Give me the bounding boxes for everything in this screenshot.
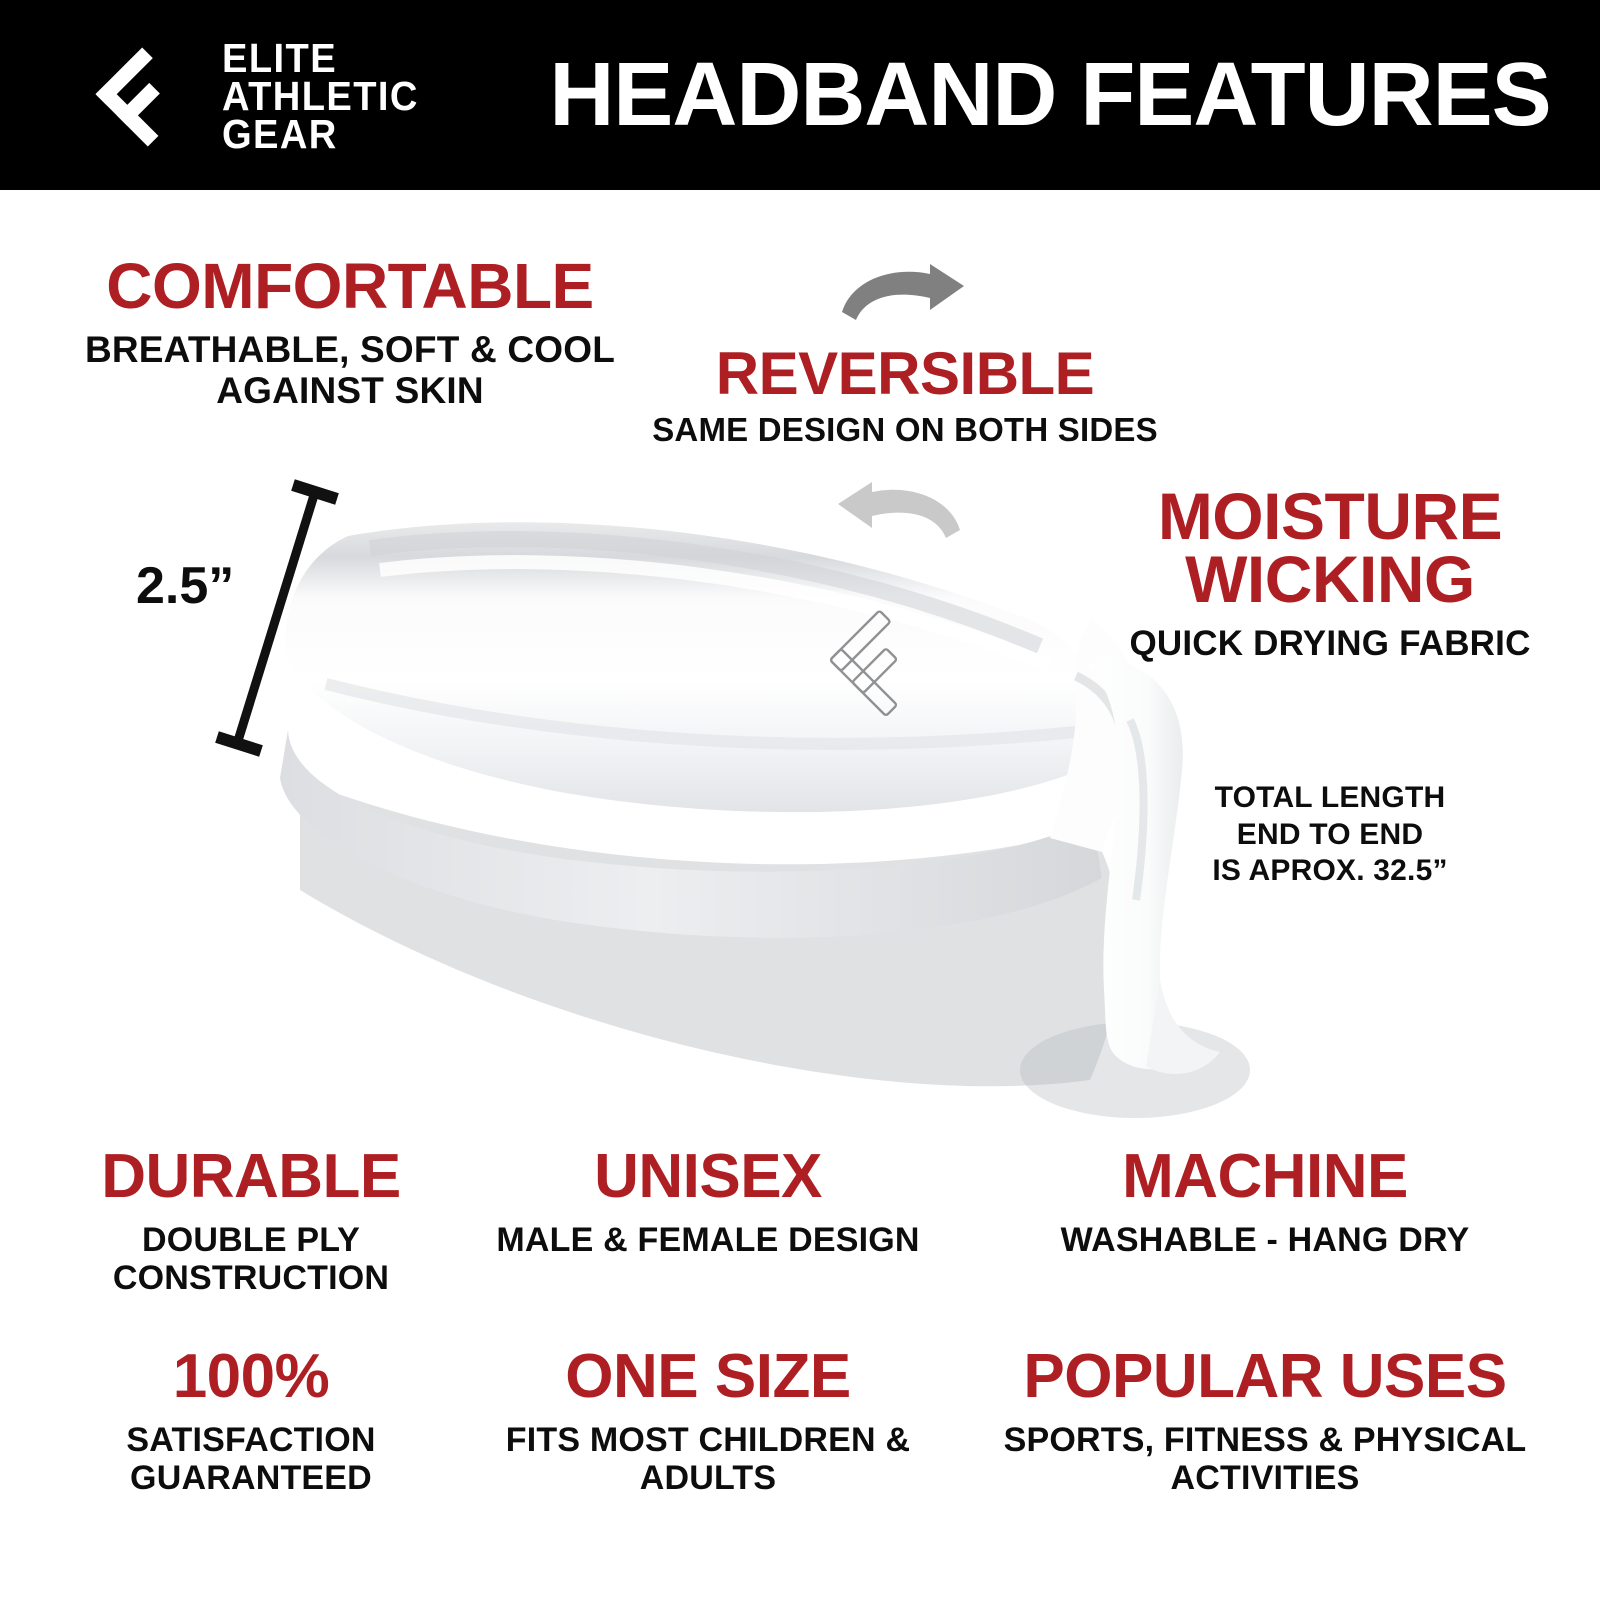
feature-satisfaction: 100% SATISFACTION GUARANTEED xyxy=(36,1348,466,1497)
feature-subtitle-line: ADULTS xyxy=(448,1459,968,1497)
feature-subtitle: FITS MOST CHILDREN & ADULTS xyxy=(448,1421,968,1497)
header-bar: ELITE ATHLETIC GEAR HEADBAND FEATURES xyxy=(0,0,1600,190)
feature-subtitle-line: ACTIVITIES xyxy=(950,1459,1580,1497)
feature-subtitle: SPORTS, FITNESS & PHYSICAL ACTIVITIES xyxy=(950,1421,1580,1497)
brand-lockup: ELITE ATHLETIC GEAR xyxy=(86,38,434,156)
feature-heading: UNISEX xyxy=(448,1148,968,1207)
arrow-curved-right-icon xyxy=(838,262,966,322)
feature-subtitle-line: FITS MOST CHILDREN & xyxy=(448,1421,968,1459)
page-title: HEADBAND FEATURES xyxy=(520,0,1580,190)
headband-product-image xyxy=(230,470,1300,1120)
feature-subtitle-line: CONSTRUCTION xyxy=(36,1259,466,1297)
feature-subtitle-line: SAME DESIGN ON BOTH SIDES xyxy=(620,412,1190,449)
feature-subtitle-line: SATISFACTION xyxy=(36,1421,466,1459)
feature-subtitle: WASHABLE - HANG DRY xyxy=(960,1221,1570,1259)
feature-heading: MACHINE xyxy=(960,1148,1570,1207)
eag-monogram-icon xyxy=(86,38,204,156)
feature-subtitle: SAME DESIGN ON BOTH SIDES xyxy=(620,412,1190,449)
feature-subtitle-line: BREATHABLE, SOFT & COOL xyxy=(40,329,660,370)
brand-line-3: GEAR xyxy=(222,116,419,154)
feature-reversible: REVERSIBLE SAME DESIGN ON BOTH SIDES xyxy=(620,345,1190,449)
feature-subtitle-line: AGAINST SKIN xyxy=(40,370,660,411)
feature-durable: DURABLE DOUBLE PLY CONSTRUCTION xyxy=(36,1148,466,1297)
feature-subtitle: SATISFACTION GUARANTEED xyxy=(36,1421,466,1497)
feature-heading: REVERSIBLE xyxy=(620,345,1190,402)
feature-subtitle-line: GUARANTEED xyxy=(36,1459,466,1497)
feature-subtitle-line: SPORTS, FITNESS & PHYSICAL xyxy=(950,1421,1580,1459)
feature-comfortable: COMFORTABLE BREATHABLE, SOFT & COOL AGAI… xyxy=(40,256,660,412)
feature-subtitle-line: MALE & FEMALE DESIGN xyxy=(448,1221,968,1259)
feature-subtitle-line: DOUBLE PLY xyxy=(36,1221,466,1259)
feature-popular-uses: POPULAR USES SPORTS, FITNESS & PHYSICAL … xyxy=(950,1348,1580,1497)
feature-heading: COMFORTABLE xyxy=(40,256,660,317)
feature-subtitle: BREATHABLE, SOFT & COOL AGAINST SKIN xyxy=(40,329,660,412)
feature-heading: ONE SIZE xyxy=(448,1348,968,1407)
feature-unisex: UNISEX MALE & FEMALE DESIGN xyxy=(448,1148,968,1259)
feature-machine-washable: MACHINE WASHABLE - HANG DRY xyxy=(960,1148,1570,1259)
feature-heading: POPULAR USES xyxy=(950,1348,1580,1407)
feature-subtitle: DOUBLE PLY CONSTRUCTION xyxy=(36,1221,466,1297)
feature-one-size: ONE SIZE FITS MOST CHILDREN & ADULTS xyxy=(448,1348,968,1497)
brand-wordmark: ELITE ATHLETIC GEAR xyxy=(222,40,419,153)
feature-subtitle-line: WASHABLE - HANG DRY xyxy=(960,1221,1570,1259)
feature-subtitle: MALE & FEMALE DESIGN xyxy=(448,1221,968,1259)
feature-heading: 100% xyxy=(36,1348,466,1407)
feature-heading: DURABLE xyxy=(36,1148,466,1207)
